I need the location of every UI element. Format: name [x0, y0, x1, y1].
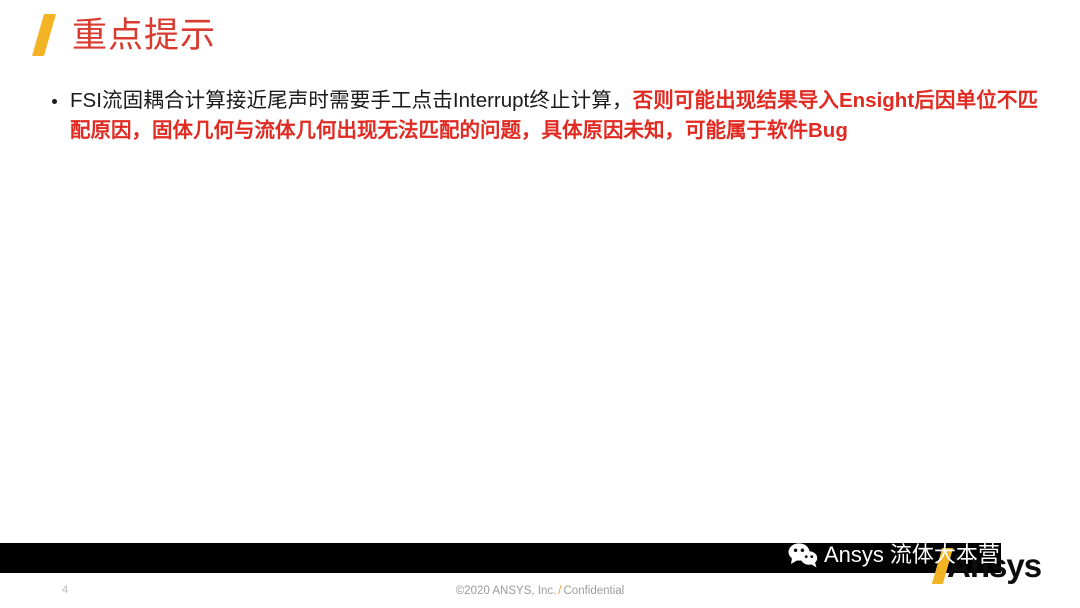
copyright-prefix: ©2020 ANSYS, Inc.	[456, 585, 557, 597]
watermark-brand: Ansys	[824, 542, 884, 568]
title-accent-slash-icon	[30, 12, 64, 58]
slide-canvas: 重点提示 FSI流固耦合计算接近尾声时需要手工点击Interrupt终止计算，否…	[0, 0, 1080, 608]
wechat-icon	[788, 542, 818, 568]
bullet-item: FSI流固耦合计算接近尾声时需要手工点击Interrupt终止计算，否则可能出现…	[48, 86, 1038, 146]
copyright-notice: ©2020 ANSYS, Inc./Confidential	[0, 584, 1080, 598]
bullet-dot-icon	[52, 99, 57, 104]
watermark-account-name: 流体大本营	[890, 542, 1000, 568]
copyright-separator: /	[556, 585, 563, 597]
copyright-suffix: Confidential	[564, 585, 625, 597]
page-title: 重点提示	[72, 18, 216, 53]
body-text-normal: FSI流固耦合计算接近尾声时需要手工点击Interrupt终止计算，	[70, 89, 633, 112]
wechat-watermark: Ansys 流体大本营	[788, 538, 1000, 572]
slide-body: FSI流固耦合计算接近尾声时需要手工点击Interrupt终止计算，否则可能出现…	[48, 86, 1038, 146]
slide-title-row: 重点提示	[30, 8, 216, 62]
